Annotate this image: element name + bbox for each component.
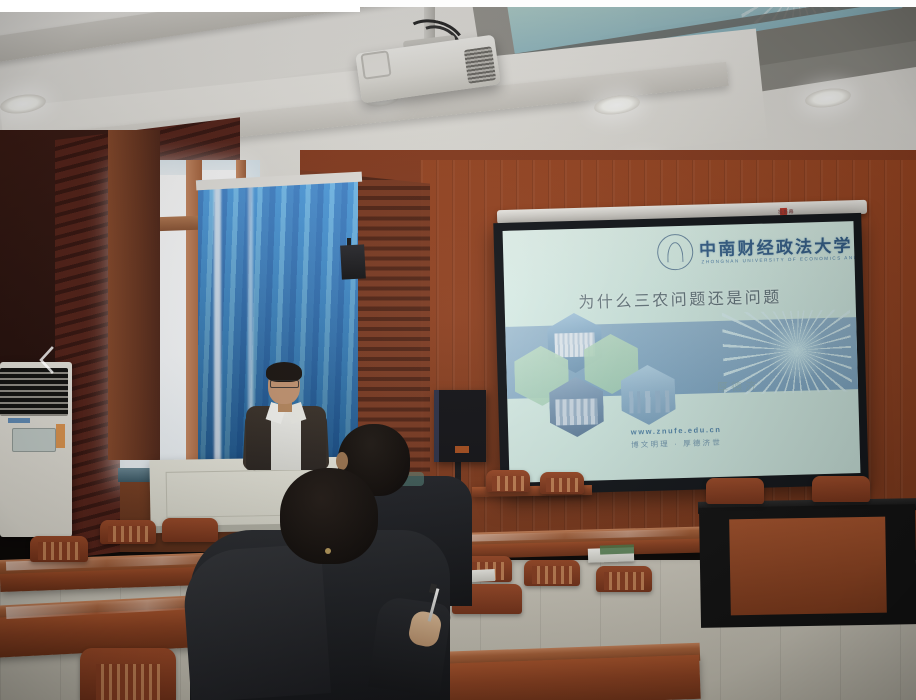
speaker-brand-badge [455, 446, 469, 453]
chair-slats [546, 478, 578, 492]
chair [706, 478, 764, 504]
chair-slats [532, 566, 572, 584]
projector-lens [360, 50, 391, 80]
lecture-hall-photograph: 投影幕 中南财经政法大学 ZHONGNAN UNIVERSITY OF ECON… [0, 0, 916, 700]
slide-faint-text: 厚德济 [717, 378, 759, 395]
slide-burst-core [764, 322, 830, 380]
ceiling-downlight [804, 86, 852, 110]
green-book [600, 544, 634, 554]
wall-column [108, 130, 160, 460]
presenter-hair [266, 362, 302, 382]
image-top-border-left [0, 0, 360, 12]
ac-energy-label [56, 424, 65, 448]
audience-front-arm [368, 595, 452, 696]
prev-arrow-icon[interactable] [36, 345, 58, 375]
presenter-glasses [270, 380, 299, 388]
university-crest-icon [657, 234, 694, 271]
projector-vent [464, 46, 496, 84]
wall-mounted-speaker [340, 244, 366, 279]
chair [812, 476, 870, 502]
curtain-highlight [214, 182, 221, 480]
chair-slats [492, 476, 524, 491]
chair-slats [38, 542, 80, 560]
audience-back-ear [336, 452, 348, 470]
chair [162, 518, 218, 542]
chair-slats [96, 664, 160, 700]
projected-slide: 中南财经政法大学 ZHONGNAN UNIVERSITY OF ECONOMIC… [503, 221, 861, 483]
jacket-button [325, 548, 331, 554]
audience-front-shoulder [181, 543, 331, 700]
right-desk-panel [729, 517, 887, 616]
ac-grille [0, 368, 68, 416]
chair-slats [108, 526, 148, 542]
ac-brand-logo [8, 418, 30, 423]
ac-control-panel [12, 428, 56, 452]
chair-slats [604, 572, 644, 590]
